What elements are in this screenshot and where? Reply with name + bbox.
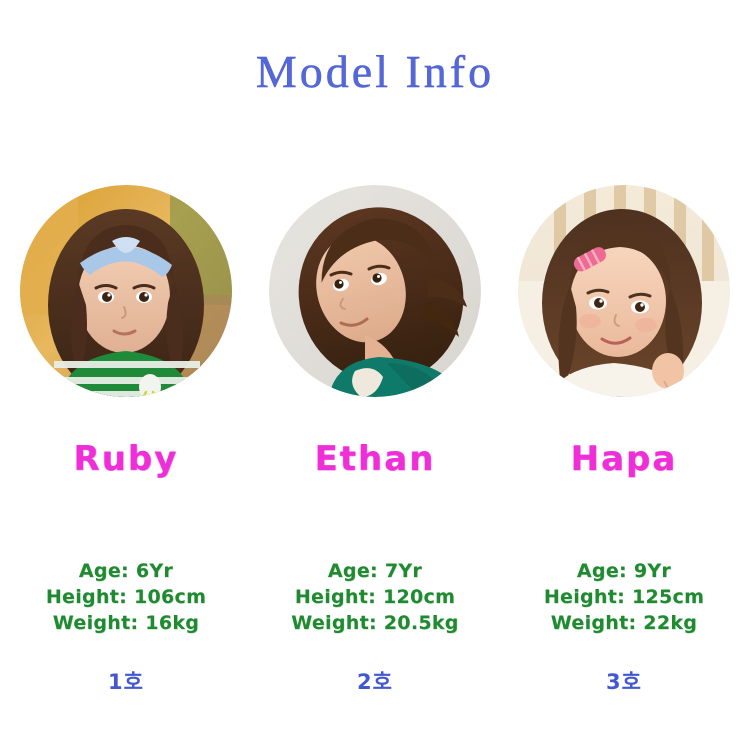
name-cell-3: Hapa (518, 437, 730, 481)
model-name-2: Ethan (315, 439, 436, 479)
size-label-3: 3호 (606, 670, 642, 694)
model-column-3 (518, 185, 730, 397)
stats-cell-3: Age: 9Yr Height: 125cm Weight: 22kg (518, 558, 730, 636)
stat-age-3: Age: 9Yr (518, 558, 730, 584)
model-stats-row: Age: 6Yr Height: 106cm Weight: 16kg Age:… (0, 558, 750, 636)
size-cell-1: 1호 (20, 668, 232, 696)
size-cell-2: 2호 (269, 668, 481, 696)
size-label-1: 1호 (108, 670, 144, 694)
page-title: Model Info (0, 44, 750, 100)
name-cell-2: Ethan (269, 437, 481, 481)
stat-height-1: Height: 106cm (20, 584, 232, 610)
stats-cell-1: Age: 6Yr Height: 106cm Weight: 16kg (20, 558, 232, 636)
model-photo-ruby (20, 185, 232, 397)
size-label-2: 2호 (357, 670, 393, 694)
name-cell-1: Ruby (20, 437, 232, 481)
model-name-1: Ruby (74, 439, 179, 479)
stat-age-2: Age: 7Yr (269, 558, 481, 584)
model-column-1 (20, 185, 232, 397)
model-photo-row (0, 185, 750, 397)
model-info-page: Model Info (0, 0, 750, 750)
stat-height-3: Height: 125cm (518, 584, 730, 610)
model-name-3: Hapa (571, 439, 678, 479)
model-photo-ethan (269, 185, 481, 397)
stats-cell-2: Age: 7Yr Height: 120cm Weight: 20.5kg (269, 558, 481, 636)
stat-weight-2: Weight: 20.5kg (269, 610, 481, 636)
model-column-2 (269, 185, 481, 397)
model-photo-hapa (518, 185, 730, 397)
stat-weight-3: Weight: 22kg (518, 610, 730, 636)
size-cell-3: 3호 (518, 668, 730, 696)
model-size-row: 1호 2호 3호 (0, 668, 750, 696)
page-title-container: Model Info (0, 44, 750, 100)
stat-age-1: Age: 6Yr (20, 558, 232, 584)
stat-weight-1: Weight: 16kg (20, 610, 232, 636)
model-name-row: Ruby Ethan Hapa (0, 437, 750, 481)
stat-height-2: Height: 120cm (269, 584, 481, 610)
